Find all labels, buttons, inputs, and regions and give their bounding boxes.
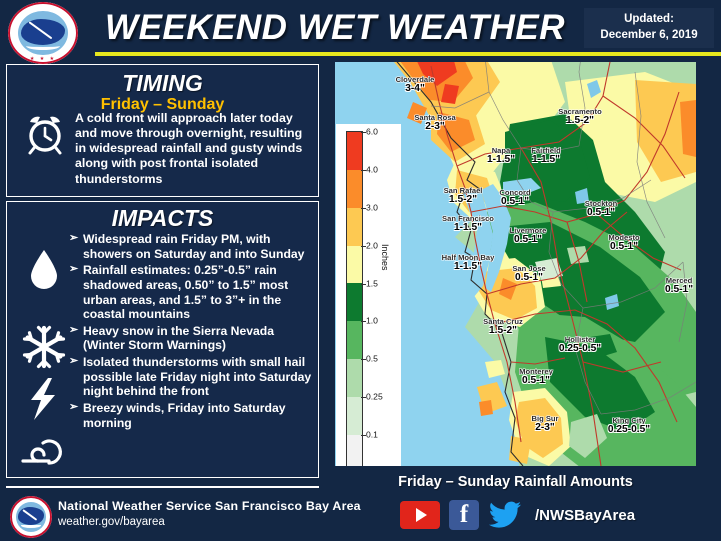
city-label: Monterey0.5-1" (519, 368, 553, 386)
map-caption: Friday – Sunday Rainfall Amounts (335, 470, 696, 494)
city-rainfall-value: 2-3" (531, 423, 558, 433)
colorbar-tick-label: 3.0 (366, 204, 378, 213)
colorbar-segment (347, 435, 362, 466)
impacts-title: IMPACTS (7, 206, 318, 230)
nws-seal-header: ★ ★ ★ (4, 2, 82, 64)
city-label: Livermore0.5-1" (510, 227, 547, 245)
colorbar-tick-mark (361, 246, 366, 247)
city-rainfall-value: 1.5-2" (558, 116, 601, 126)
colorbar-tick-label: 6.0 (366, 128, 378, 137)
colorbar-segment (347, 359, 362, 397)
alarm-clock-icon (21, 109, 69, 157)
city-rainfall-value: 0.5-1" (499, 197, 530, 207)
impact-text: Widespread rain Friday PM, with showers … (83, 232, 317, 261)
city-rainfall-value: 1-1.5" (487, 155, 515, 165)
city-rainfall-value: 3-4" (396, 84, 435, 94)
city-rainfall-value: 0.5-1" (512, 273, 545, 283)
impact-text: Rainfall estimates: 0.25”-0.5” rain shad… (83, 263, 317, 322)
footer-text: National Weather Service San Francisco B… (58, 499, 361, 528)
rainfall-map: Cloverdale3-4"Santa Rosa2-3"Napa1-1.5"Fa… (335, 62, 696, 466)
impact-item: ➢Widespread rain Friday PM, with showers… (69, 232, 317, 261)
city-label: Santa Cruz1.5-2" (483, 318, 523, 336)
nws-seal-icon: ★ ★ ★ (8, 2, 78, 64)
colorbar-tick-mark (361, 132, 366, 133)
colorbar-gradient (346, 131, 363, 466)
colorbar-tick-mark (361, 435, 366, 436)
footer-url[interactable]: weather.gov/bayarea (58, 516, 361, 528)
colorbar-tick-label: 1.0 (366, 317, 378, 326)
impact-item: ➢Isolated thunderstorms with small hail … (69, 355, 317, 399)
colorbar-segment (347, 208, 362, 246)
city-rainfall-value: 1-1.5" (442, 262, 495, 272)
colorbar-segment (347, 321, 362, 359)
city-rainfall-value: 0.25-0.5" (608, 425, 650, 435)
city-label: San Francisco1-1.5" (442, 215, 494, 233)
colorbar-legend: 6.04.03.02.01.51.00.50.250.10.0 Inches (336, 124, 401, 466)
timing-title: TIMING (7, 71, 318, 95)
social-links: f /NWSBayArea (400, 498, 700, 532)
colorbar-segment (347, 246, 362, 284)
updated-badge: Updated: December 6, 2019 (584, 8, 714, 48)
colorbar-tick-mark (361, 170, 366, 171)
city-rainfall-value: 0.5-1" (585, 208, 618, 218)
bullet-arrow-icon: ➢ (69, 355, 83, 369)
city-label: Cloverdale3-4" (396, 76, 435, 94)
city-label: Merced0.5-1" (665, 277, 693, 295)
city-label: Big Sur2-3" (531, 415, 558, 433)
impact-text: Breezy winds, Friday into Saturday morni… (83, 401, 317, 430)
colorbar-tick-label: 0.25 (366, 393, 383, 402)
footer-organization: National Weather Service San Francisco B… (58, 499, 361, 513)
footer-divider (6, 486, 319, 488)
colorbar-segment (347, 170, 362, 208)
impacts-list: ➢Widespread rain Friday PM, with showers… (69, 232, 317, 432)
nws-seal-footer (10, 496, 52, 538)
wind-icon (19, 430, 69, 470)
city-label: King City0.25-0.5" (608, 417, 650, 435)
city-label: Stockton0.5-1" (585, 200, 618, 218)
city-label: Half Moon Bay1-1.5" (442, 254, 495, 272)
city-label: Santa Rosa2-3" (414, 114, 455, 132)
impact-item: ➢ Breezy winds, Friday into Saturday mor… (69, 401, 317, 430)
timing-body: A cold front will approach later today a… (75, 111, 315, 187)
twitter-icon[interactable] (488, 500, 522, 530)
colorbar-tick-label: 2.0 (366, 241, 378, 250)
colorbar-tick-mark (361, 321, 366, 322)
bullet-arrow-icon: ➢ (69, 263, 83, 277)
bullet-arrow-icon: ➢ (69, 232, 83, 246)
weather-graphic: ★ ★ ★ WEEKEND WET WEATHER Updated: Decem… (0, 0, 721, 541)
city-rainfall-value: 0.5-1" (608, 242, 639, 252)
timing-panel: TIMING Friday – Sunday A cold front will… (6, 64, 319, 197)
raindrop-icon (21, 246, 67, 292)
facebook-icon[interactable]: f (449, 500, 479, 530)
youtube-icon[interactable] (400, 501, 440, 529)
colorbar-axis-label: Inches (380, 244, 390, 271)
bullet-arrow-icon: ➢ (69, 401, 83, 415)
colorbar-tick-label: 1.5 (366, 279, 378, 288)
header-divider (95, 52, 721, 56)
city-label: Napa1-1.5" (487, 147, 515, 165)
city-label: Fairfield1-1.5" (531, 147, 561, 165)
colorbar-tick-mark (361, 284, 366, 285)
city-rainfall-value: 1-1.5" (442, 223, 494, 233)
colorbar-tick-label: 0.1 (366, 431, 378, 440)
nws-seal-icon (10, 496, 52, 538)
impact-text: Heavy snow in the Sierra Nevada (Winter … (83, 324, 317, 353)
city-rainfall-value: 0.25-0.5" (559, 344, 601, 354)
city-label: San Jose0.5-1" (512, 265, 545, 283)
colorbar-tick-mark (361, 359, 366, 360)
colorbar-tick-label: 4.0 (366, 166, 378, 175)
colorbar-segment (347, 397, 362, 435)
city-label: Modesto0.5-1" (608, 234, 639, 252)
impact-item: ➢Rainfall estimates: 0.25”-0.5” rain sha… (69, 263, 317, 322)
colorbar-tick-mark (361, 397, 366, 398)
snowflake-icon (21, 324, 67, 370)
impact-text: Isolated thunderstorms with small hail p… (83, 355, 317, 399)
colorbar-tick-label: 0.5 (366, 355, 378, 364)
social-handle: /NWSBayArea (535, 507, 635, 524)
lightning-bolt-icon (21, 376, 67, 422)
bullet-arrow-icon: ➢ (69, 324, 83, 338)
city-rainfall-value: 0.5-1" (519, 376, 553, 386)
facebook-glyph: f (460, 502, 468, 527)
colorbar-segment (347, 283, 362, 321)
impact-item: ➢Heavy snow in the Sierra Nevada (Winter… (69, 324, 317, 353)
city-label: San Rafael1.5-2" (444, 187, 483, 205)
city-rainfall-value: 1.5-2" (483, 326, 523, 336)
city-label: Sacramento1.5-2" (558, 108, 601, 126)
city-rainfall-value: 2-3" (414, 122, 455, 132)
page-title: WEEKEND WET WEATHER (95, 5, 575, 51)
city-rainfall-value: 0.5-1" (665, 285, 693, 295)
city-rainfall-value: 1.5-2" (444, 195, 483, 205)
city-rainfall-value: 1-1.5" (531, 155, 561, 165)
impacts-panel: IMPACTS (6, 201, 319, 478)
updated-label: Updated: (624, 12, 674, 28)
header: ★ ★ ★ WEEKEND WET WEATHER Updated: Decem… (0, 0, 721, 56)
colorbar-tick-mark (361, 208, 366, 209)
colorbar-segment (347, 132, 362, 170)
city-label: Hollister0.25-0.5" (559, 336, 601, 354)
updated-date: December 6, 2019 (600, 28, 697, 44)
city-rainfall-value: 0.5-1" (510, 235, 547, 245)
city-label: Concord0.5-1" (499, 189, 530, 207)
